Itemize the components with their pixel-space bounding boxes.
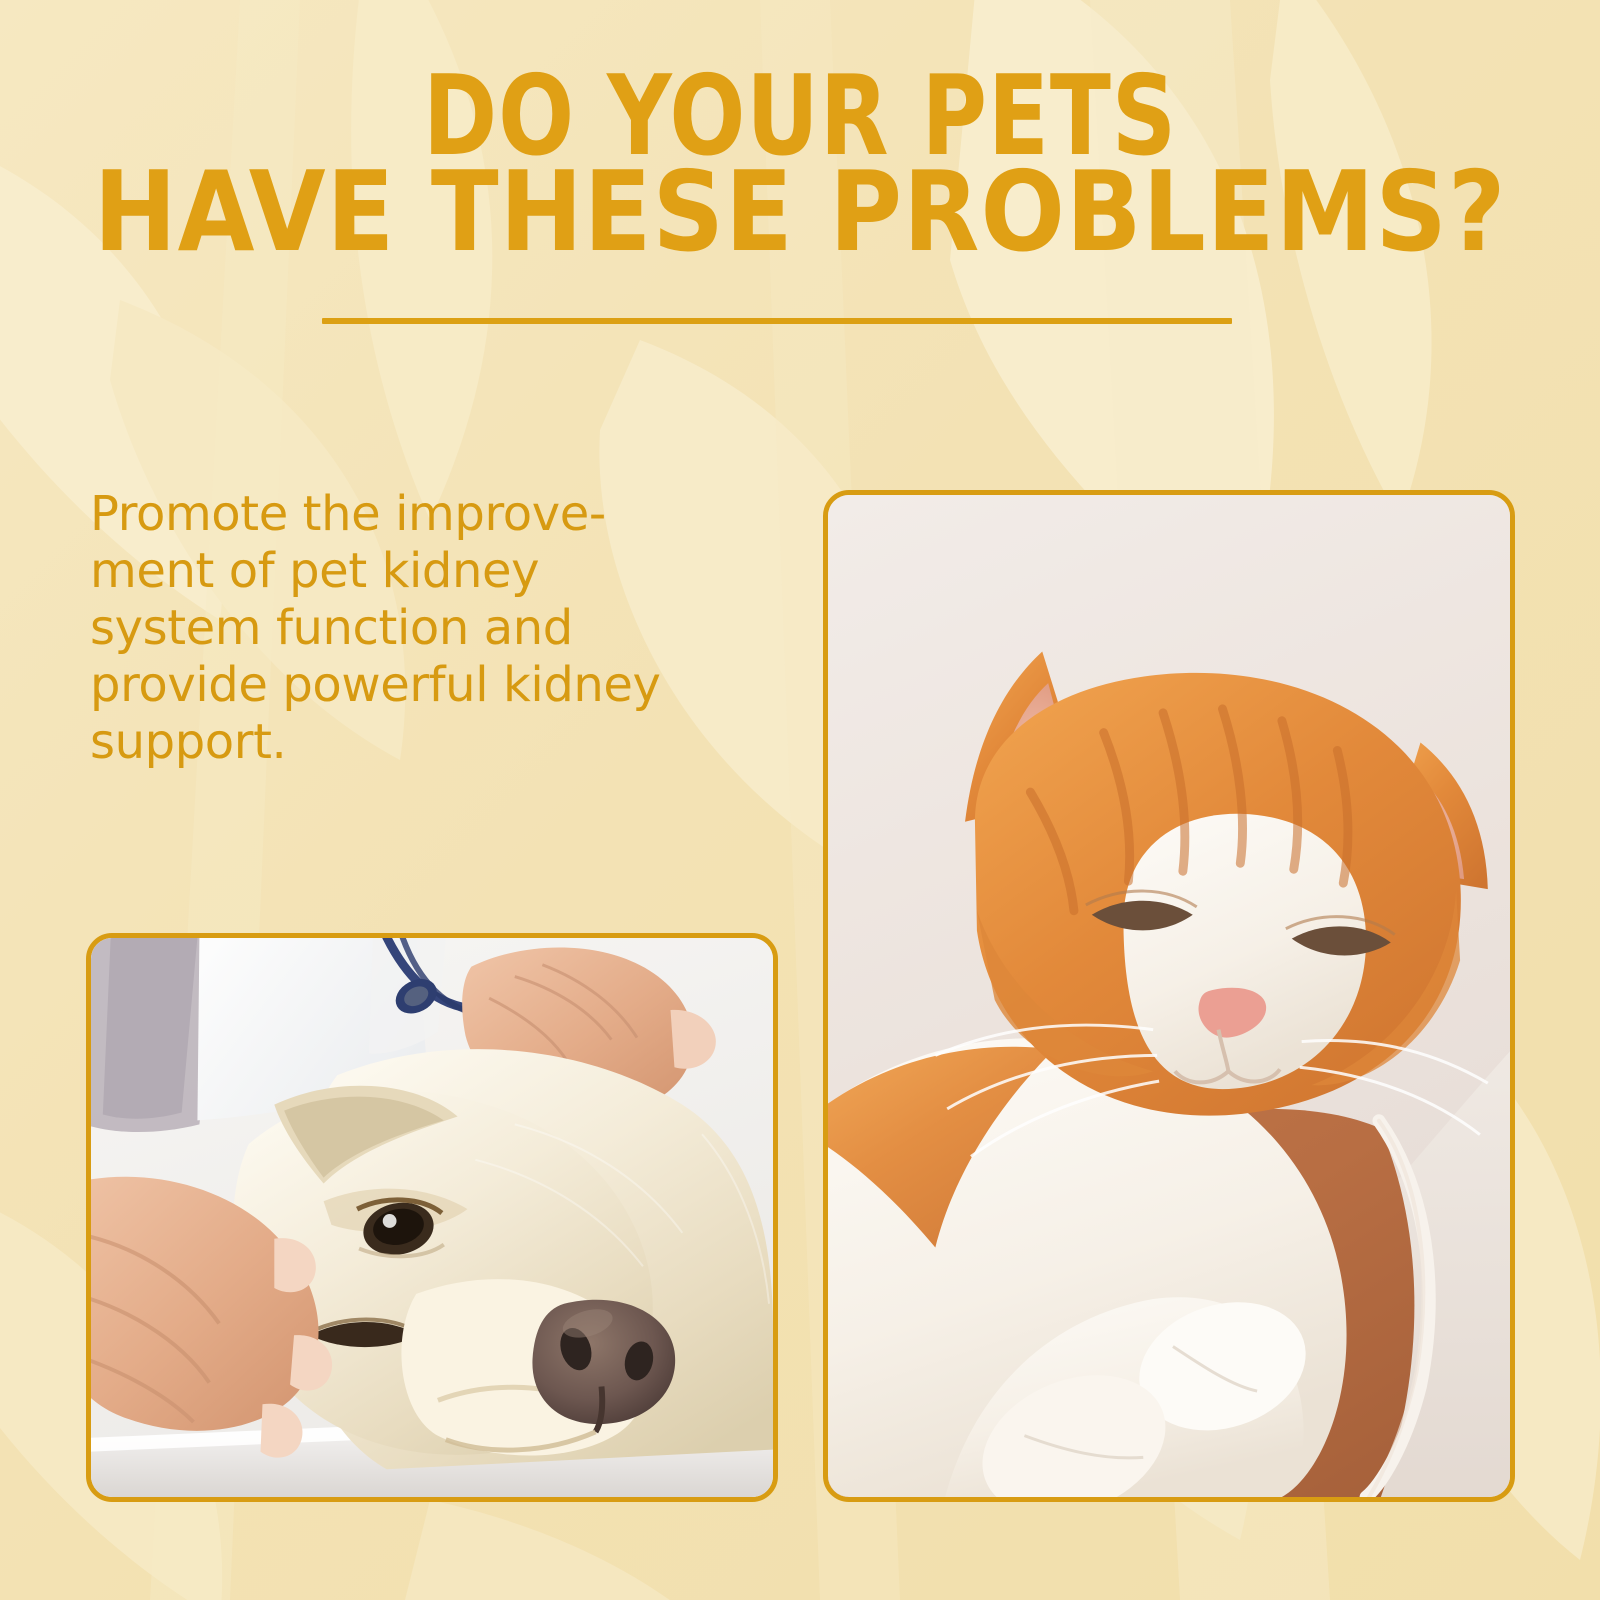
body-line: provide powerful kidney xyxy=(90,657,750,714)
body-line: ment of pet kidney xyxy=(90,543,750,600)
body-line: system function and xyxy=(90,600,750,657)
cat-photo-image xyxy=(828,495,1510,1497)
headline-line-2: HAVE THESE PROBLEMS? xyxy=(36,160,1564,266)
photo-frame-dog xyxy=(86,933,778,1502)
dog-photo-image xyxy=(91,938,773,1497)
body-paragraph: Promote the improve- ment of pet kidney … xyxy=(90,486,750,771)
body-line: Promote the improve- xyxy=(90,486,750,543)
page-title: DO YOUR PETS HAVE THESE PROBLEMS? xyxy=(0,64,1600,260)
photo-frame-cat xyxy=(823,490,1515,1502)
title-divider-rule xyxy=(322,318,1232,324)
body-line: support. xyxy=(90,714,750,771)
